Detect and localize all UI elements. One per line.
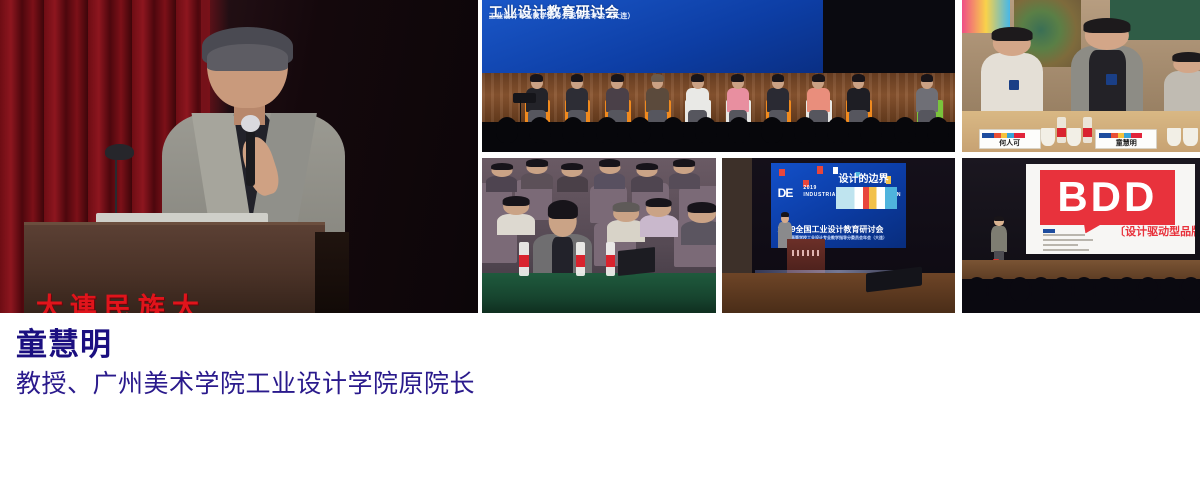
speech-bubble-tail (1084, 222, 1106, 234)
photo-keynote-podium[interactable]: 大連民族大學 (0, 0, 478, 313)
paper-cup (1041, 128, 1055, 146)
speaker-caption: 童慧明 教授、广州美术学院工业设计学院原院长 (16, 326, 816, 402)
green-draped-table (482, 273, 716, 313)
photo-stage-presentation[interactable]: DE 2019INDUSTRIAL DESIGN EDUCATION 设计的边界… (722, 158, 955, 313)
placard-name-text: 何人可 (999, 140, 1020, 148)
podium-inscription: 大連民族大學 (36, 295, 223, 309)
water-bottle (606, 242, 615, 276)
podium-side-panel (315, 232, 348, 313)
stage-led-screen: 工业设计教育研讨会 工业设计专业教学指导分委员会年会（大连） (482, 0, 823, 73)
audience-member (526, 161, 547, 189)
audience-member (562, 164, 583, 192)
stage-backdrop-dark (823, 0, 955, 73)
water-bottle (1083, 117, 1091, 143)
bdd-red-block: BDD (1040, 170, 1175, 226)
name-placard-right: 童慧明 (1095, 129, 1157, 149)
slide-badge (1043, 229, 1055, 233)
placard-name-text: 童慧明 (1116, 140, 1137, 148)
photo-audience[interactable] (482, 158, 716, 313)
audience-member (491, 164, 512, 192)
podium: 大連民族大學 (24, 222, 325, 313)
decor-dot (779, 169, 785, 176)
speaker-name: 童慧明 (16, 326, 816, 363)
side-wall-column (722, 158, 752, 279)
audience-member (636, 164, 657, 192)
paper-cup (1183, 128, 1197, 146)
video-camera (513, 93, 537, 104)
audience-silhouette (962, 279, 1200, 313)
speaker-role: 教授、广州美术学院工业设计学院原院长 (16, 368, 816, 402)
photo-panel-discussion[interactable]: 工业设计教育研讨会 工业设计专业教学指导分委员会年会（大连） (482, 0, 955, 152)
audience-member (613, 205, 639, 242)
gooseneck-mic-stem (115, 153, 117, 222)
photo-round-table[interactable]: 何人可 童慧明 (962, 0, 1200, 152)
microphone-head (241, 115, 260, 132)
audience-member (674, 161, 695, 189)
audience-member (646, 200, 672, 237)
bdd-logo-text: BDD (1057, 176, 1157, 218)
speaker-hair (202, 27, 294, 66)
slide-heading: 设计的边界 (838, 175, 888, 185)
presentation-screen: BDD 〔设计驱动型品牌〕 (1026, 164, 1195, 254)
speaker-profile-page: 大連民族大學 工业设计教育研讨会 工业设计专业教学指导分委员会年会（大连） (0, 0, 1200, 480)
laptop (618, 247, 655, 276)
paper-cup (1167, 128, 1181, 146)
audience-silhouette (482, 122, 955, 152)
participant-right (1071, 21, 1142, 115)
slide-body-lines (1043, 234, 1097, 248)
slide-conference-title: 2019全国工业设计教育研讨会 (778, 226, 884, 234)
name-placard-left: 何人可 (979, 129, 1041, 149)
water-bottle (576, 242, 585, 276)
placard-color-strip (982, 133, 1025, 138)
participant-far-right (1164, 55, 1200, 116)
stage-floor (482, 73, 955, 128)
decor-dot (833, 167, 838, 174)
paper-cup (1067, 128, 1081, 146)
screen-subtitle-text: 工业设计专业教学指导分委员会年会（大连） (489, 11, 635, 21)
water-bottle (1057, 117, 1065, 143)
slide-color-blocks (836, 187, 897, 209)
bdd-tagline: 〔设计驱动型品牌〕 (1114, 227, 1195, 238)
photo-bdd-slide[interactable]: BDD 〔设计驱动型品牌〕 (962, 158, 1200, 313)
participant-left (981, 30, 1043, 115)
placard-color-strip (1099, 133, 1142, 138)
decor-dot (817, 166, 823, 174)
audience-member (503, 198, 529, 235)
audience-member (599, 161, 620, 189)
handheld-microphone (246, 127, 256, 186)
slide-logo-de: DE (778, 187, 793, 199)
audience-member (688, 205, 716, 245)
photo-gallery: 大連民族大學 工业设计教育研讨会 工业设计专业教学指导分委员会年会（大连） (0, 0, 1200, 314)
gooseneck-mic-head (105, 144, 134, 160)
water-bottle (519, 242, 528, 276)
stage-speaker (991, 217, 1008, 260)
